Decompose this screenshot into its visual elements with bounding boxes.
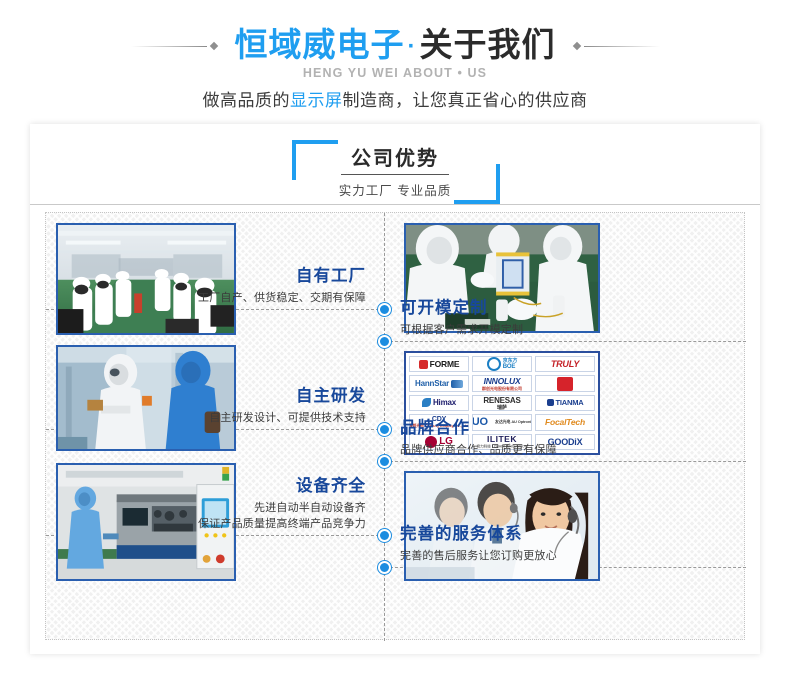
feature-heading: 设备齐全 (76, 475, 366, 497)
title-section: 关于我们 (420, 26, 556, 63)
section-title: 公司优势 (30, 142, 760, 171)
features-canvas: FORME 京东方 BOE TRULY (45, 212, 745, 640)
connector-line-2 (385, 341, 746, 342)
subtitle-part-2: 制造商，让您真正省心的供应商 (343, 91, 588, 110)
brand-label: Himax (433, 398, 456, 407)
feature-desc-line-2: 保证产品质量提高终端产品竞争力 (76, 516, 366, 532)
subtitle-highlight: 显示屏 (290, 91, 343, 110)
brand-cell-innolux: INNOLUX 群创光电股份有限公司 (472, 375, 532, 391)
logo-innolux-icon: INNOLUX 群创光电股份有限公司 (477, 376, 527, 392)
feature-desc-line: 完善的售后服务让您订购更放心 (400, 548, 700, 564)
feature-block-3: 自主研发 自主研发设计、可提供技术支持 (86, 385, 366, 426)
brand-cell-himax: Himax (409, 395, 469, 411)
brand-label: TRULY (551, 359, 579, 369)
title-rule-left (131, 41, 217, 52)
brand-cell-cpt (535, 375, 595, 391)
feature-heading: 品牌合作 (400, 417, 700, 439)
feature-block-2: 可开模定制 可根据客户需求开模定制 (400, 297, 700, 338)
timeline-dot-4 (378, 455, 391, 468)
brand-cell-forme: FORME (409, 356, 469, 372)
content-panel: 公司优势 实力工厂 专业品质 (30, 124, 760, 654)
brand-label: BOE (503, 364, 517, 370)
brand-cell-hannstar: HannStar (409, 375, 469, 391)
section-header: 公司优势 实力工厂 专业品质 (30, 132, 760, 202)
timeline-dot-5 (378, 529, 391, 542)
title-separator: · (405, 33, 420, 60)
section-divider (30, 204, 760, 205)
title-rule-right (574, 41, 660, 52)
subtitle-part-1: 做高品质的 (203, 91, 291, 110)
feature-block-1: 自有工厂 工厂自产、供货稳定、交期有保障 (86, 265, 366, 306)
logo-himax-icon: Himax (422, 398, 456, 407)
logo-tianma-icon: TIANMA (547, 398, 584, 407)
feature-heading: 自有工厂 (86, 265, 366, 287)
subtitle-english: HENG YU WEI ABOUT • US (0, 66, 790, 80)
logo-boe-icon: 京东方 BOE (487, 357, 517, 371)
about-us-page: 恒域威电子·关于我们 HENG YU WEI ABOUT • US 做高品质的显… (0, 0, 790, 678)
brand-cell-renesas: RENESAS 瑞萨 (472, 395, 532, 411)
feature-desc-line: 先进自动半自动设备齐 (76, 500, 366, 516)
brand-label: INNOLUX (484, 376, 521, 386)
brand-sublabel: 群创光电股份有限公司 (482, 386, 522, 391)
brand-cell-tianma: TIANMA (535, 395, 595, 411)
page-header: 恒域威电子·关于我们 HENG YU WEI ABOUT • US 做高品质的显… (0, 0, 790, 118)
page-title-text: 恒域威电子·关于我们 (235, 25, 556, 67)
logo-hannstar-icon: HannStar (415, 379, 463, 388)
timeline-dot-3 (378, 423, 391, 436)
section-subtitle: 实力工厂 专业品质 (30, 180, 760, 199)
brand-cell-truly: TRULY (535, 356, 595, 372)
feature-heading: 可开模定制 (400, 297, 700, 319)
feature-block-6: 完善的服务体系 完善的售后服务让您订购更放心 (400, 523, 700, 564)
brand-cell-boe: 京东方 BOE (472, 356, 532, 372)
brand-label: RENESAS (483, 396, 520, 405)
feature-desc-line: 品牌供应商合作、品质更有保障 (400, 442, 700, 458)
subtitle-chinese: 做高品质的显示屏制造商，让您真正省心的供应商 (0, 86, 790, 111)
feature-heading: 完善的服务体系 (400, 523, 700, 545)
logo-renesas-icon: RENESAS 瑞萨 (483, 396, 520, 411)
feature-desc-line: 可根据客户需求开模定制 (400, 322, 700, 338)
timeline-dot-1 (378, 303, 391, 316)
brand-label: FORME (430, 359, 460, 369)
feature-block-4: 品牌合作 品牌供应商合作、品质更有保障 (400, 417, 700, 458)
feature-desc-line: 自主研发设计、可提供技术支持 (86, 410, 366, 426)
logo-cpt-icon (557, 377, 573, 391)
feature-desc-line: 工厂自产、供货稳定、交期有保障 (86, 290, 366, 306)
brand-label: HannStar (415, 379, 449, 388)
brand-sublabel: 瑞萨 (497, 405, 507, 411)
feature-block-5: 设备齐全 先进自动半自动设备齐 保证产品质量提高终端产品竞争力 (76, 475, 366, 532)
feature-heading: 自主研发 (86, 385, 366, 407)
timeline-dot-6 (378, 561, 391, 574)
logo-forme-icon: FORME (419, 359, 460, 369)
title-brand: 恒域威电子 (235, 26, 405, 63)
brand-label: TIANMA (556, 398, 584, 407)
connector-line-4 (385, 461, 746, 462)
section-title-underline (341, 174, 449, 175)
page-title: 恒域威电子·关于我们 (0, 22, 790, 70)
timeline-dot-2 (378, 335, 391, 348)
